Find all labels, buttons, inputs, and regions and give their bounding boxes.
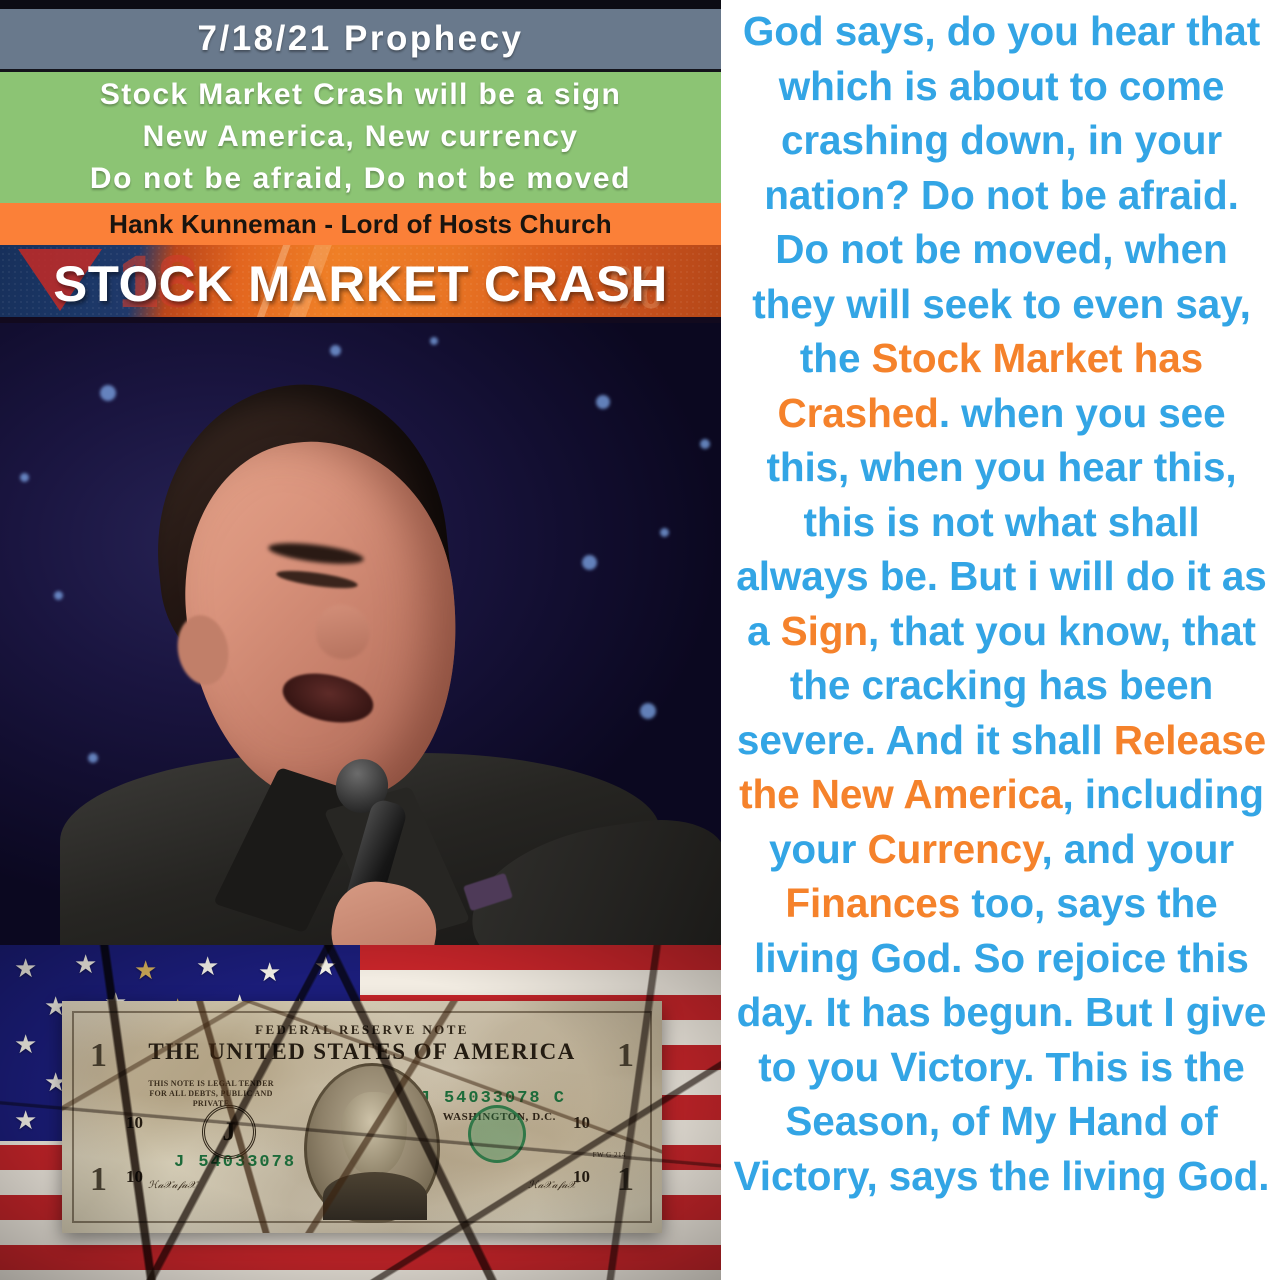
- stock-market-crash-banner: 18 % STOCK MARKET CRASH: [0, 245, 721, 323]
- prophecy-segment-10: too, says the living God. So rejoice thi…: [734, 880, 1270, 1199]
- prophecy-graphic-panel: 7/18/21 Prophecy Stock Market Crash will…: [0, 0, 721, 1280]
- banner-title: STOCK MARKET CRASH: [0, 245, 721, 323]
- prophecy-segment-7: Currency: [867, 826, 1041, 872]
- prophecy-body-text: God says, do you hear that which is abou…: [733, 4, 1270, 1203]
- prophecy-date-title: 7/18/21 Prophecy: [198, 19, 524, 59]
- headline-block: Stock Market Crash will be a sign New Am…: [0, 72, 721, 203]
- top-divider: [0, 0, 721, 9]
- prophecy-segment-9: Finances: [785, 880, 960, 926]
- speaker-attribution-bar: Hank Kunneman - Lord of Hosts Church: [0, 203, 721, 245]
- headline-line-2: New America, New currency: [143, 116, 579, 158]
- speaker-name: Hank Kunneman - Lord of Hosts Church: [109, 209, 612, 240]
- prophecy-segment-3: Sign: [781, 608, 868, 654]
- headline-line-1: Stock Market Crash will be a sign: [100, 74, 621, 116]
- cracked-flag-dollar-image: ★ ★ ★ ★ ★ ★ ★ ★ ★ ★ ★ ★ ★ ★ ★ ★ ★ ★ ★ ★ …: [0, 945, 721, 1280]
- prophecy-text-panel: God says, do you hear that which is abou…: [721, 0, 1280, 1280]
- headline-line-3: Do not be afraid, Do not be moved: [90, 158, 631, 200]
- prophecy-segment-8: , and your: [1042, 826, 1235, 872]
- prophecy-segment-0: God says, do you hear that which is abou…: [743, 8, 1260, 381]
- preacher-photo: [0, 323, 721, 945]
- flag-vignette: [0, 945, 721, 1280]
- prophecy-date-bar: 7/18/21 Prophecy: [0, 9, 721, 72]
